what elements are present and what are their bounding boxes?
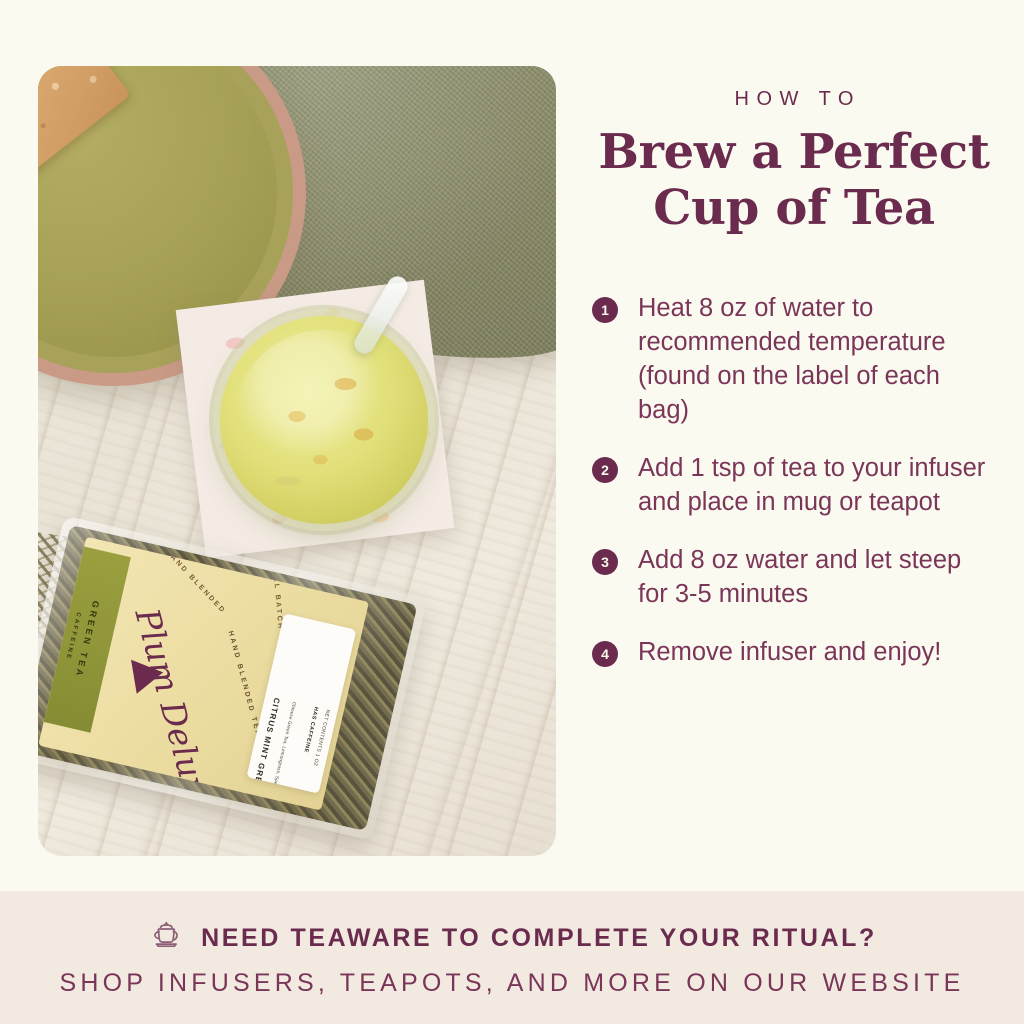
step-number-badge: 1 (592, 297, 618, 323)
step-item: 3 Add 8 oz water and let steep for 3-5 m… (592, 544, 996, 612)
kicker-how-to: HOW TO (592, 88, 996, 111)
glass-tea-cup (220, 316, 428, 524)
steps-list: 1 Heat 8 oz of water to recommended temp… (592, 292, 996, 669)
page-title-line1: Brew a Perfect (598, 124, 989, 180)
step-item: 2 Add 1 tsp of tea to your infuser and p… (592, 452, 996, 520)
step-number-badge: 3 (592, 549, 618, 575)
footer-banner: NEED TEAWARE TO COMPLETE YOUR RITUAL? SH… (0, 891, 1024, 1024)
step-text: Heat 8 oz of water to recommended temper… (638, 292, 996, 428)
footer-line-2: SHOP INFUSERS, TEAPOTS, AND MORE ON OUR … (60, 969, 965, 998)
page-title: Brew a Perfect Cup of Tea (592, 125, 996, 236)
step-text: Add 1 tsp of tea to your infuser and pla… (638, 452, 996, 520)
step-item: 1 Heat 8 oz of water to recommended temp… (592, 292, 996, 428)
poster-root: GREEN TEA CAFFEINE HAND BLENDED SMALL BA… (0, 0, 1024, 1024)
step-number-badge: 4 (592, 641, 618, 667)
page-title-line2: Cup of Tea (653, 180, 935, 236)
step-text: Add 8 oz water and let steep for 3-5 min… (638, 544, 996, 612)
footer-headline-row: NEED TEAWARE TO COMPLETE YOUR RITUAL? (147, 917, 877, 960)
content-column: HOW TO Brew a Perfect Cup of Tea 1 Heat … (592, 66, 996, 694)
step-item: 4 Remove infuser and enjoy! (592, 636, 996, 670)
photo-scene: GREEN TEA CAFFEINE HAND BLENDED SMALL BA… (38, 66, 556, 856)
footer-line-1: NEED TEAWARE TO COMPLETE YOUR RITUAL? (201, 924, 877, 953)
teapot-icon (147, 917, 185, 960)
step-number-badge: 2 (592, 457, 618, 483)
step-text: Remove infuser and enjoy! (638, 636, 941, 670)
hero-photo: GREEN TEA CAFFEINE HAND BLENDED SMALL BA… (38, 66, 556, 856)
